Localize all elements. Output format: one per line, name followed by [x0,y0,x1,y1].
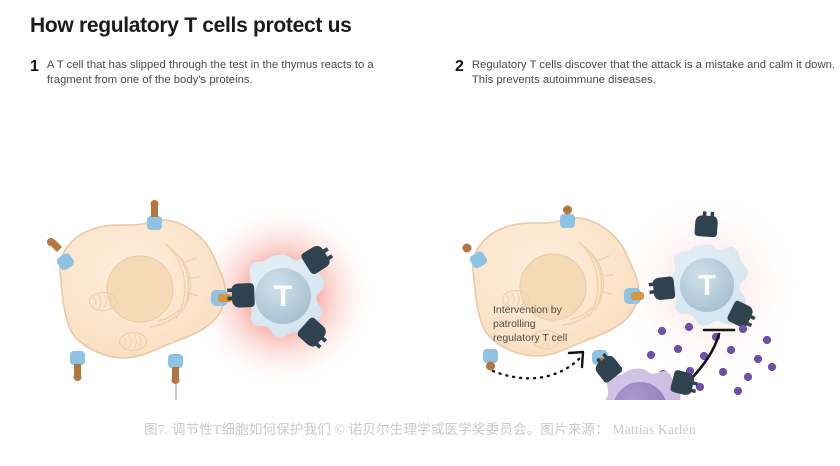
mhc-receptor-bottom-left [483,349,498,371]
intervention-label-line2: patrolling [493,318,536,330]
mhc-receptor-bottom-right [168,354,183,384]
t-cell-label: T [698,270,716,302]
t-cell-label: T [274,280,292,313]
intervention-label-line3: regulatory T cell [493,332,567,344]
body-cell-left [60,220,226,358]
figure-caption: 图7. 调节性T细胞如何保护我们 © 诺贝尔生理学或医学奖委员会。图片来源： M… [0,418,840,438]
treg-label-main: T [620,396,637,400]
step-2: 2 Regulatory T cells discover that the a… [455,58,840,88]
cell-nucleus [107,256,173,322]
illustration-stage: T Endogenous protein fragment [0,100,840,400]
mhc-receptor-bottom-left [70,351,85,381]
step-2-number: 2 [455,58,464,74]
step-1-text: A T cell that has slipped through the te… [47,58,410,88]
panel-right: T [463,191,803,400]
mhc-receptor-top [147,200,162,230]
mhc-receptor-top [560,206,575,229]
figure-container: How regulatory T cells protect us 1 A T … [0,0,840,466]
step-1: 1 A T cell that has slipped through the … [30,58,410,88]
intervention-label-line1: Intervention by [493,304,563,316]
page-title: How regulatory T cells protect us [30,14,352,38]
panel-left: T Endogenous protein fragment [47,200,375,400]
step-1-number: 1 [30,58,39,74]
step-2-text: Regulatory T cells discover that the att… [472,58,840,88]
